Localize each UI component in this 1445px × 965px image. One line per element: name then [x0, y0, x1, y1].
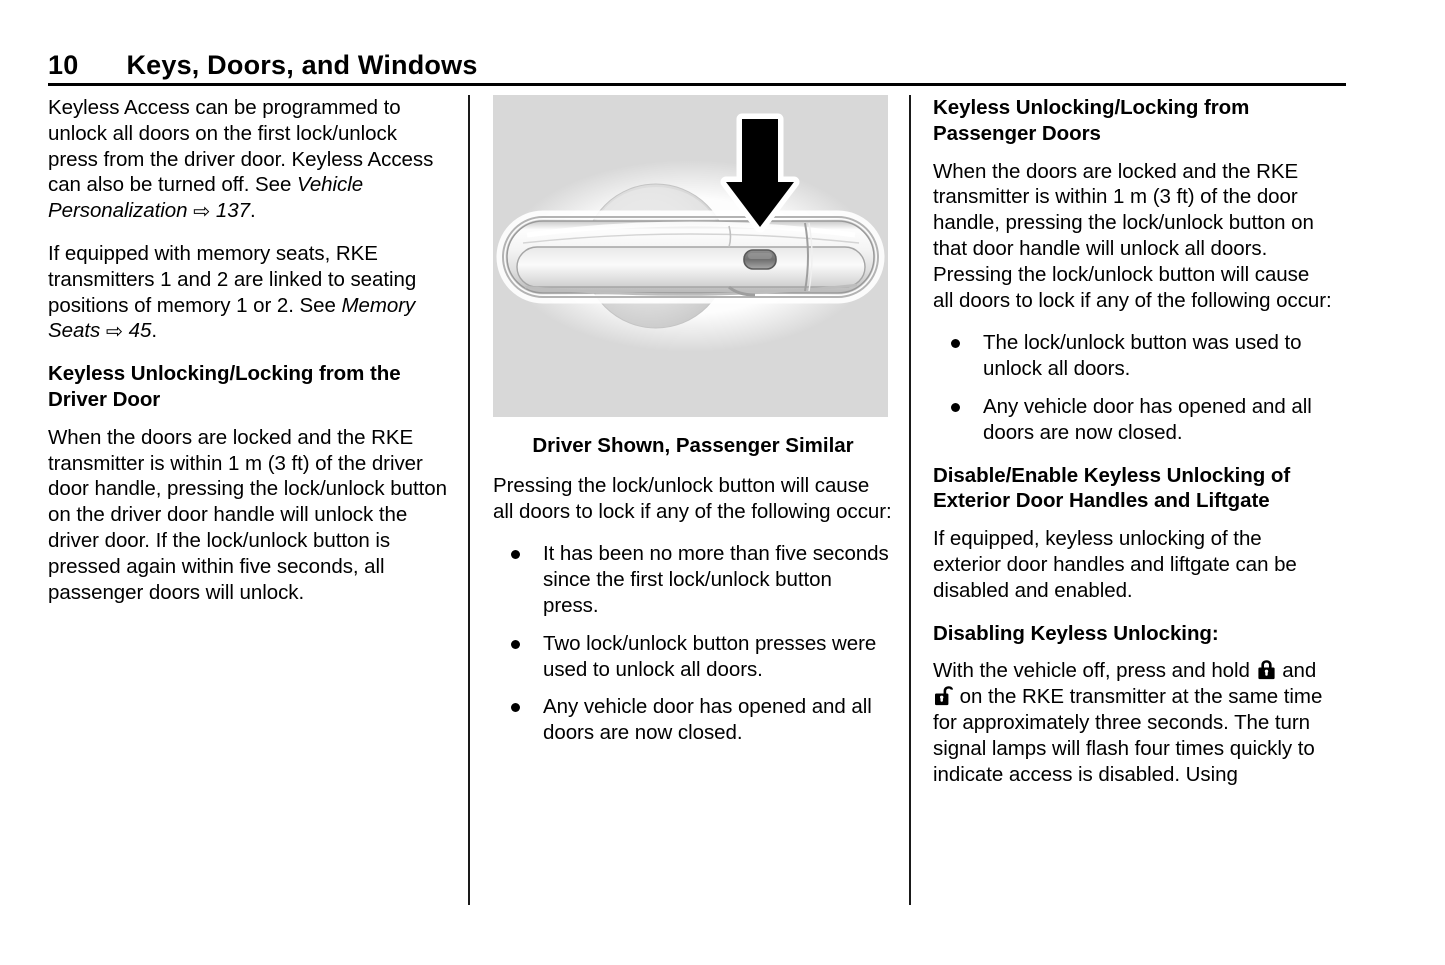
para-text: Keyless Access can be programmed to unlo… [48, 96, 433, 196]
paragraph-keyless-access: Keyless Access can be programmed to unlo… [48, 95, 448, 224]
paragraph-disabling-procedure: With the vehicle off, press and hold and… [933, 658, 1333, 787]
lock-open-icon [934, 685, 953, 706]
list-item: Two lock/unlock button presses were used… [493, 631, 893, 683]
bullet-dot-icon [951, 339, 960, 348]
door-handle-svg [493, 95, 888, 417]
list-item: It has been no more than five seconds si… [493, 541, 893, 618]
heading-keyless-driver-door: Keyless Unlocking/Locking from the Drive… [48, 361, 448, 413]
lock-closed-icon [1257, 659, 1276, 680]
xref-page: 137 [216, 199, 250, 222]
bullet-dot-icon [951, 403, 960, 412]
bullet-list-lock-conditions: It has been no more than five seconds si… [493, 541, 893, 746]
bullet-dot-icon [511, 703, 520, 712]
manual-page: 10 Keys, Doors, and Windows Keyless Acce… [0, 0, 1445, 965]
lock-unlock-button-graphic [744, 250, 776, 269]
list-item-text: Any vehicle door has opened and all door… [983, 395, 1312, 444]
door-handle-illustration [493, 95, 888, 417]
figure-caption: Driver Shown, Passenger Similar [493, 433, 893, 459]
paragraph-pressing-lock-unlock: Pressing the lock/unlock button will cau… [493, 473, 893, 525]
column-3: Keyless Unlocking/Locking from Passenger… [933, 95, 1333, 905]
page-header: 10 Keys, Doors, and Windows [48, 44, 1346, 86]
list-item-text: It has been no more than five seconds si… [543, 542, 889, 617]
paragraph-disable-enable-info: If equipped, keyless unlocking of the ex… [933, 526, 1333, 603]
para-end: . [151, 319, 157, 342]
para-end: . [250, 199, 256, 222]
paragraph-passenger-door-behavior: When the doors are locked and the RKE tr… [933, 159, 1333, 314]
heading-disabling-keyless-unlocking: Disabling Keyless Unlocking: [933, 621, 1333, 647]
column-1: Keyless Access can be programmed to unlo… [48, 95, 448, 905]
xref-page: 45 [129, 319, 152, 342]
bullet-dot-icon [511, 550, 520, 559]
paragraph-memory-seats: If equipped with memory seats, RKE trans… [48, 241, 448, 344]
heading-keyless-passenger-doors: Keyless Unlocking/Locking from Passenger… [933, 95, 1333, 147]
list-item: Any vehicle door has opened and all door… [933, 394, 1333, 446]
xref-arrow-icon: ⇨ [106, 319, 123, 345]
page-title: Keys, Doors, and Windows [126, 52, 477, 83]
xref-arrow-icon: ⇨ [193, 199, 210, 225]
para-text: With the vehicle off, press and hold [933, 659, 1256, 682]
paragraph-driver-door-behavior: When the doors are locked and the RKE tr… [48, 425, 448, 606]
heading-disable-enable-keyless: Disable/Enable Keyless Unlocking of Exte… [933, 463, 1333, 515]
column-divider-1 [468, 95, 470, 905]
page-number: 10 [48, 52, 78, 83]
list-item-text: Two lock/unlock button presses were used… [543, 632, 876, 681]
list-item-text: The lock/unlock button was used to unloc… [983, 331, 1302, 380]
figure-door-handle [493, 95, 893, 417]
para-text: on the RKE transmitter at the same time … [933, 685, 1322, 785]
list-item-text: Any vehicle door has opened and all door… [543, 695, 872, 744]
bullet-dot-icon [511, 640, 520, 649]
column-divider-2 [909, 95, 911, 905]
list-item: The lock/unlock button was used to unloc… [933, 330, 1333, 382]
para-text: and [1277, 659, 1317, 682]
column-2: Driver Shown, Passenger Similar Pressing… [493, 95, 893, 905]
list-item: Any vehicle door has opened and all door… [493, 694, 893, 746]
content-columns: Keyless Access can be programmed to unlo… [48, 95, 1346, 905]
bullet-list-passenger-lock-conditions: The lock/unlock button was used to unloc… [933, 330, 1333, 445]
